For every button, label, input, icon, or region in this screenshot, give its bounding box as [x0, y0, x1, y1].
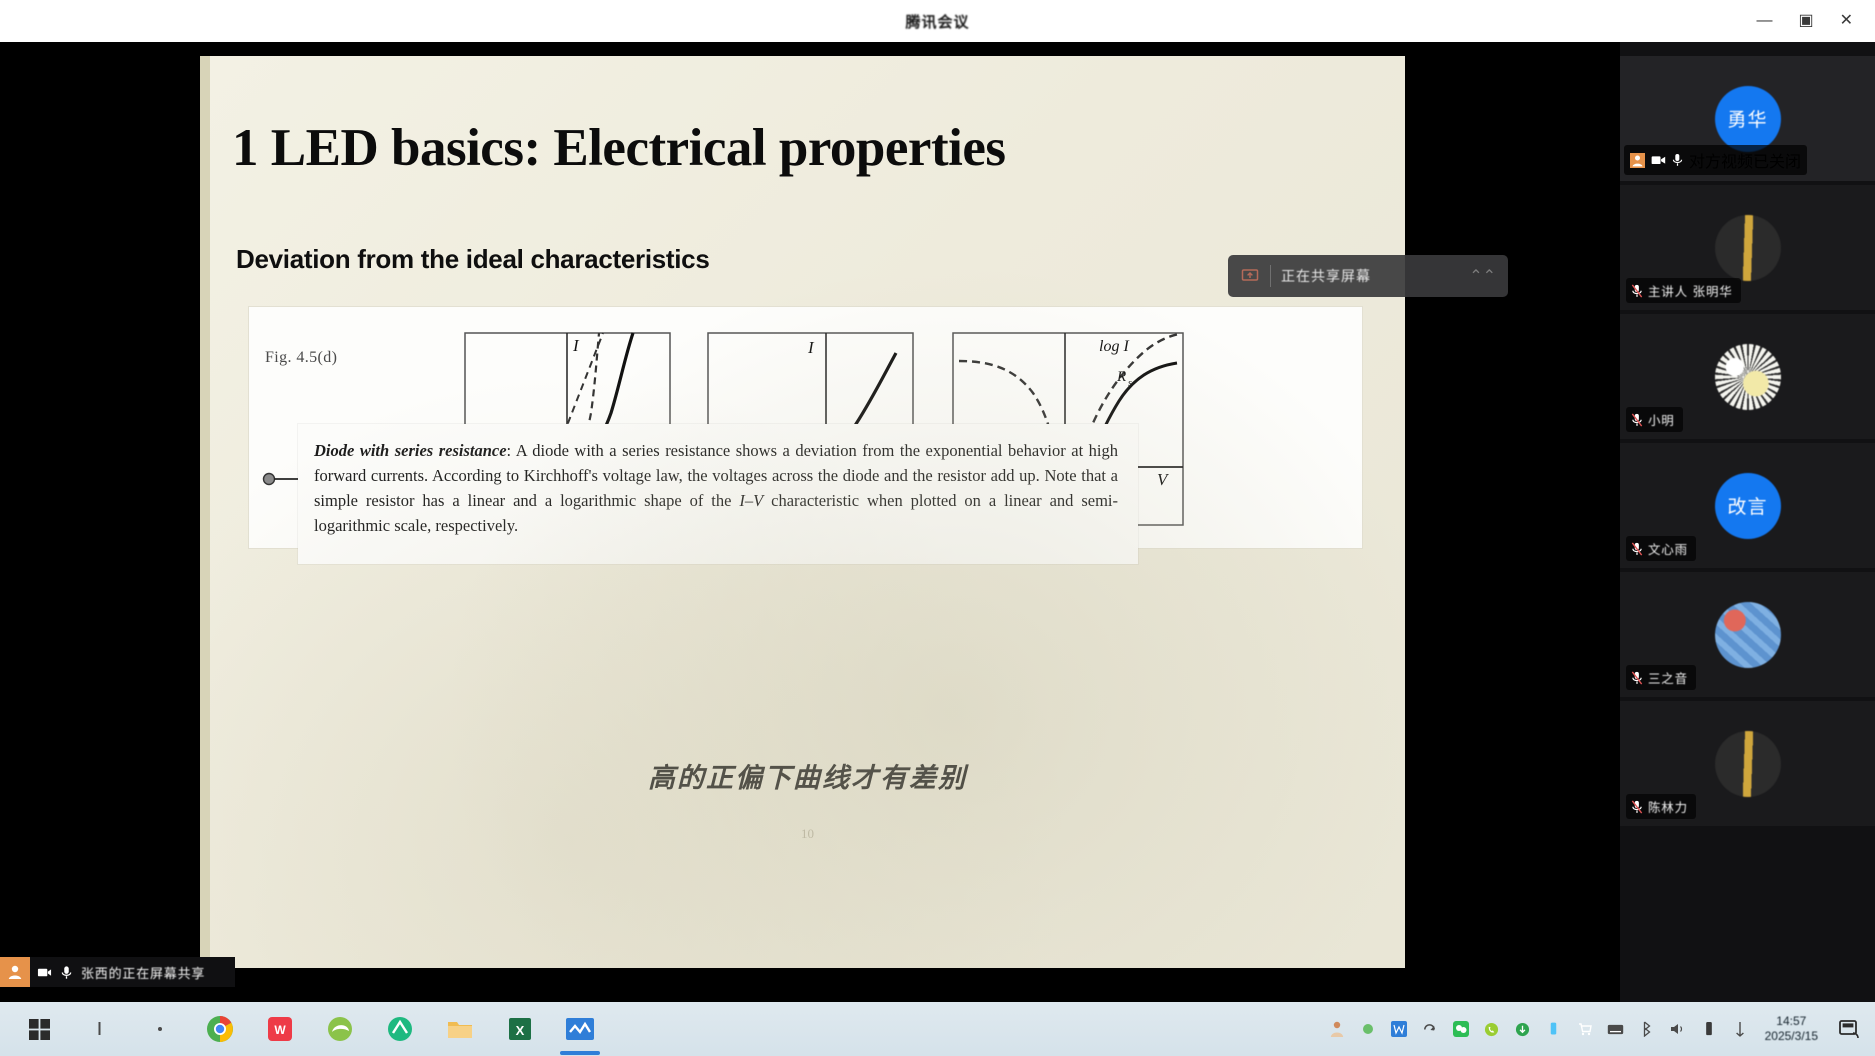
- wps-taskbar-icon[interactable]: W: [252, 1003, 308, 1055]
- user-icon[interactable]: [1327, 1019, 1347, 1039]
- cortana-button[interactable]: [132, 1003, 188, 1055]
- camera-off-icon: [1651, 154, 1666, 167]
- mic-muted-icon: [1631, 542, 1643, 556]
- participant-tile[interactable]: 勇华 对方视频已关闭: [1620, 56, 1875, 181]
- meeting-taskbar-icon[interactable]: [552, 1003, 608, 1055]
- toolbar-divider: [1270, 265, 1271, 287]
- mic-muted-icon: [1631, 671, 1643, 685]
- battery-icon[interactable]: [1699, 1019, 1719, 1039]
- participant-label: 主讲人 张明华: [1626, 278, 1741, 303]
- system-tray: 14:57 2025/3/15: [1327, 1014, 1875, 1044]
- clock-time: 14:57: [1776, 1014, 1806, 1029]
- clock-date: 2025/3/15: [1765, 1029, 1818, 1044]
- collapse-arrows-icon[interactable]: ⌃⌃: [1469, 266, 1496, 286]
- avatar: [1715, 215, 1781, 281]
- svg-text:log I: log I: [1099, 338, 1129, 355]
- participant-name: 陈林力: [1648, 797, 1688, 816]
- person-icon: [1630, 153, 1645, 168]
- slide-page-number: 10: [210, 826, 1405, 842]
- input-method-icon[interactable]: [1730, 1019, 1750, 1039]
- avatar: 改言: [1715, 473, 1781, 539]
- participant-name: 小明: [1648, 410, 1675, 429]
- slide-title: 1 LED basics: Electrical properties: [232, 118, 1005, 178]
- mic-muted-icon: [1631, 284, 1643, 298]
- svg-text:s: s: [1128, 378, 1132, 389]
- update-icon[interactable]: [1513, 1019, 1533, 1039]
- edge-icon: [326, 1015, 354, 1043]
- caption-lead-in: Diode with series resistance: [314, 441, 507, 460]
- avatar: [1715, 344, 1781, 410]
- start-button[interactable]: [12, 1003, 68, 1055]
- slide-subtitle: Deviation from the ideal characteristics: [236, 244, 710, 275]
- mic-icon: [59, 965, 74, 980]
- svg-text:I: I: [572, 336, 580, 355]
- taskbar-apps: W: [0, 1003, 608, 1055]
- window-controls: — ▣ ✕: [1756, 0, 1865, 42]
- shared-screen-stage: 1 LED basics: Electrical properties Devi…: [0, 42, 1620, 1002]
- chrome-icon: [205, 1014, 235, 1044]
- bluetooth-icon[interactable]: [1637, 1019, 1657, 1039]
- mic-muted-icon: [1631, 800, 1643, 814]
- participant-tile[interactable]: 改言 文心雨: [1620, 443, 1875, 568]
- windows-logo-icon: [28, 1017, 52, 1041]
- mic-muted-icon: [1672, 153, 1683, 167]
- participant-tile[interactable]: 小明: [1620, 314, 1875, 439]
- camera-off-icon: [37, 965, 52, 980]
- screen-share-icon: [1240, 266, 1260, 286]
- svg-text:W: W: [274, 1023, 286, 1037]
- sketch-taskbar-icon[interactable]: [372, 1003, 428, 1055]
- usb-icon[interactable]: [1544, 1019, 1564, 1039]
- volume-icon[interactable]: [1668, 1019, 1688, 1039]
- participant-label: 三之音: [1626, 665, 1696, 690]
- chrome-taskbar-icon[interactable]: [192, 1003, 248, 1055]
- participant-tile[interactable]: 主讲人 张明华: [1620, 185, 1875, 310]
- participant-tile[interactable]: 三之音: [1620, 572, 1875, 697]
- screen-share-status-label: 正在共享屏幕: [1281, 266, 1371, 286]
- participant-name: 主讲人 张明华: [1648, 281, 1733, 300]
- window-title: 腾讯会议: [905, 11, 969, 32]
- notifications-icon[interactable]: [1837, 1017, 1861, 1041]
- avatar: [1715, 731, 1781, 797]
- presenter-avatar: [0, 957, 30, 987]
- task-view-icon: [91, 1019, 109, 1039]
- participant-name: 三之音: [1648, 668, 1688, 687]
- wechat-icon[interactable]: [1451, 1019, 1471, 1039]
- meeting-app-window: 腾讯会议 — ▣ ✕ 1 LED basics: Electrical prop…: [0, 0, 1875, 1056]
- meeting-icon: [565, 1015, 595, 1043]
- presenter-name-label: 张西的正在屏幕共享: [81, 963, 205, 982]
- wps-tray-icon[interactable]: [1389, 1019, 1409, 1039]
- phone-icon[interactable]: [1482, 1019, 1502, 1039]
- task-view-button[interactable]: [72, 1003, 128, 1055]
- keyboard-icon[interactable]: [1606, 1019, 1626, 1039]
- dot-icon: [153, 1022, 167, 1036]
- sync-icon[interactable]: [1420, 1019, 1440, 1039]
- participant-label: 文心雨: [1626, 536, 1696, 561]
- participant-name: 文心雨: [1648, 539, 1688, 558]
- sketch-icon: [386, 1015, 414, 1043]
- screen-share-floating-toolbar[interactable]: 正在共享屏幕 ⌃⌃: [1228, 255, 1508, 297]
- minimize-button[interactable]: —: [1756, 13, 1772, 29]
- svg-text:I: I: [807, 338, 815, 357]
- svg-text:V: V: [1157, 470, 1170, 489]
- slide-chinese-note: 高的正偏下曲线才有差别: [210, 756, 1405, 795]
- avatar: 勇华: [1715, 86, 1781, 152]
- dot-icon[interactable]: [1358, 1019, 1378, 1039]
- svg-text:X: X: [516, 1023, 525, 1038]
- windows-taskbar: W: [0, 1002, 1875, 1056]
- maximize-button[interactable]: ▣: [1798, 13, 1813, 29]
- figure-caption-label: Fig. 4.5(d): [265, 349, 337, 367]
- participant-label: 小明: [1626, 407, 1683, 432]
- excel-icon: X: [506, 1015, 534, 1043]
- excel-taskbar-icon[interactable]: X: [492, 1003, 548, 1055]
- wps-icon: W: [266, 1015, 294, 1043]
- participant-rail: 勇华 对方视频已关闭: [1620, 42, 1875, 1002]
- edge-taskbar-icon[interactable]: [312, 1003, 368, 1055]
- window-titlebar: 腾讯会议 — ▣ ✕: [0, 0, 1875, 42]
- participant-tile[interactable]: 陈林力: [1620, 701, 1875, 826]
- taskbar-clock[interactable]: 14:57 2025/3/15: [1765, 1014, 1818, 1044]
- participant-label: 陈林力: [1626, 794, 1696, 819]
- close-button[interactable]: ✕: [1840, 13, 1853, 29]
- mic-muted-icon: [1631, 413, 1643, 427]
- figure-caption-paragraph: Diode with series resistance: A diode wi…: [298, 424, 1138, 564]
- participant-name: 对方视频已关闭: [1689, 148, 1801, 172]
- folder-icon: [446, 1016, 474, 1042]
- participant-status-row: 对方视频已关闭: [1624, 145, 1807, 175]
- caption-iv-symbol: I–V: [739, 491, 763, 510]
- svg-text:R: R: [1116, 369, 1126, 385]
- folder-taskbar-icon[interactable]: [432, 1003, 488, 1055]
- cart-icon[interactable]: [1575, 1019, 1595, 1039]
- avatar: [1715, 602, 1781, 668]
- presenter-chip: 张西的正在屏幕共享: [0, 957, 235, 987]
- presentation-slide: 1 LED basics: Electrical properties Devi…: [200, 56, 1405, 968]
